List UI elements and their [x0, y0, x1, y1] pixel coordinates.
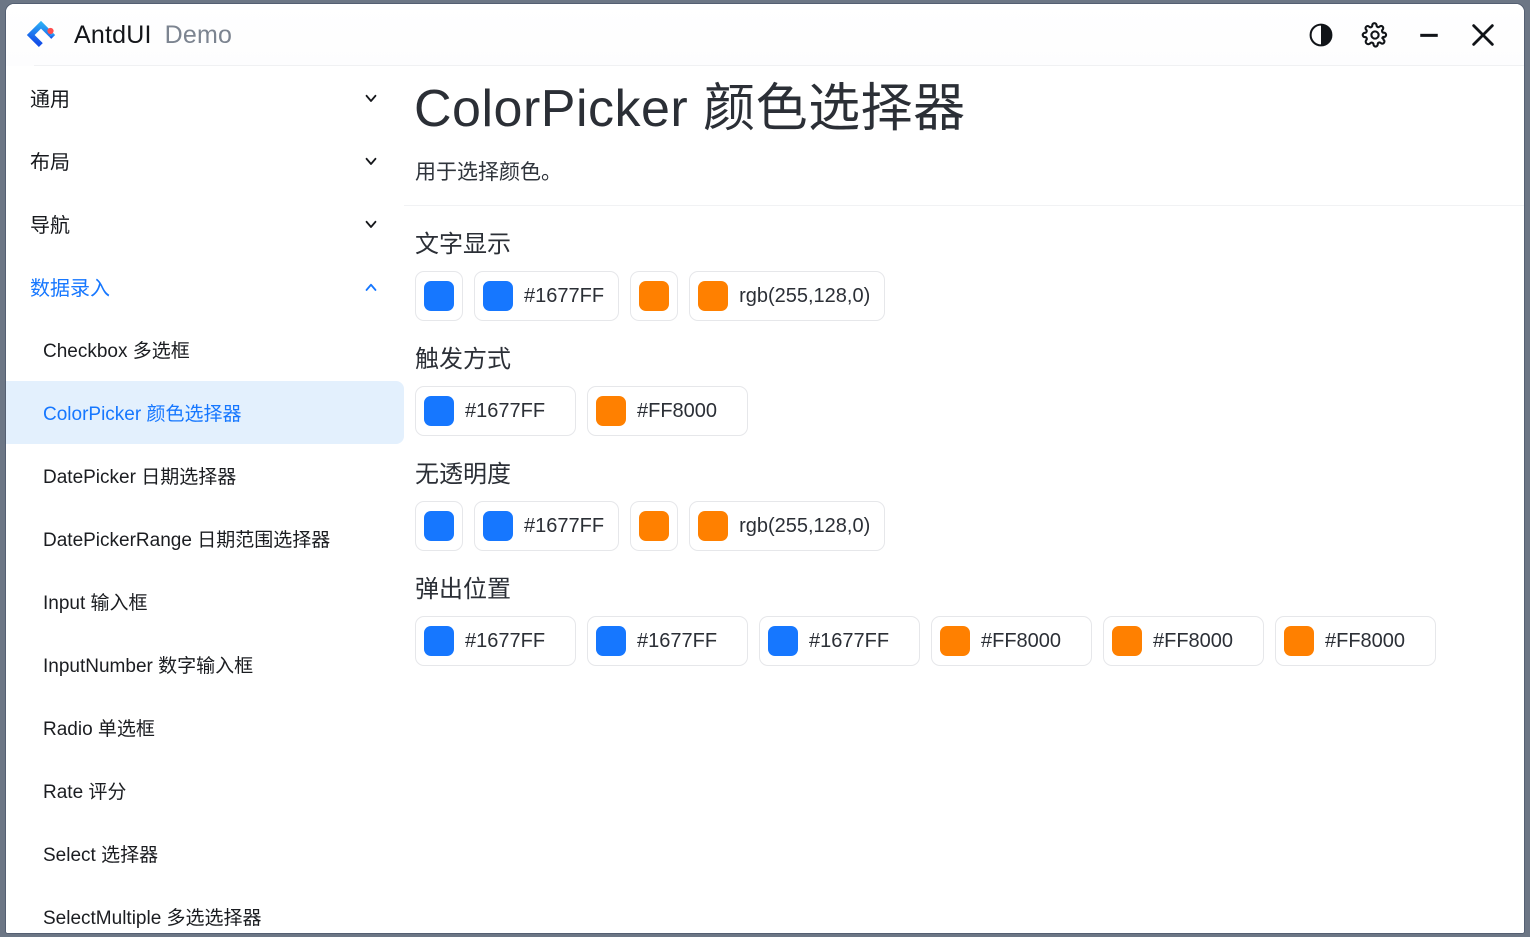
sidebar-item-datepicker[interactable]: DatePicker 日期选择器 [6, 444, 404, 507]
sidebar-item-datepickerrange[interactable]: DatePickerRange 日期范围选择器 [6, 507, 404, 570]
page-description: 用于选择颜色。 [415, 156, 1524, 186]
close-icon [1467, 19, 1499, 51]
sidebar-item-selectmultiple[interactable]: SelectMultiple 多选选择器 [6, 885, 404, 933]
sidebar-item-label: DatePickerRange 日期范围选择器 [43, 525, 330, 552]
sidebar-item-label: Radio 单选框 [43, 714, 155, 741]
page-title: ColorPicker 颜色选择器 [414, 78, 1524, 140]
title-bar: AntdUI Demo [6, 4, 1524, 66]
color-swatch [483, 511, 513, 541]
section-title: 文字显示 [415, 224, 1524, 259]
section-title: 弹出位置 [415, 569, 1524, 604]
sidebar-item-label: Input 输入框 [43, 588, 148, 615]
color-swatch [1112, 626, 1142, 656]
color-swatch [483, 281, 513, 311]
section-wenzixianshi: 文字显示 #1677FF rgb(255,128,0) [415, 224, 1524, 321]
sidebar-group-label: 导航 [30, 209, 362, 238]
colorpicker-hex-orange[interactable]: #FF8000 [587, 386, 748, 436]
colorpicker-row: #1677FF rgb(255,128,0) [415, 501, 1524, 551]
sidebar-group-label: 通用 [30, 83, 362, 112]
color-swatch [768, 626, 798, 656]
sidebar-item-label: DatePicker 日期选择器 [43, 462, 236, 489]
app-window: AntdUI Demo [6, 4, 1524, 933]
color-swatch [596, 626, 626, 656]
color-swatch [639, 511, 669, 541]
section-chufafangshi: 触发方式 #1677FF #FF8000 [415, 339, 1524, 436]
colorpicker-row: #1677FF #1677FF #1677FF #FF8000 [415, 616, 1524, 666]
chevron-down-icon [362, 215, 380, 233]
colorpicker-value: #1677FF [809, 630, 889, 653]
section-tanchuweizhi: 弹出位置 #1677FF #1677FF #1677FF [415, 569, 1524, 666]
sidebar: 通用 布局 导航 数据录入 [6, 66, 404, 933]
colorpicker-placement-6[interactable]: #FF8000 [1275, 616, 1436, 666]
color-swatch [698, 281, 728, 311]
contrast-half-circle-icon [1308, 22, 1334, 48]
app-title: AntdUI [74, 21, 152, 50]
colorpicker-placement-4[interactable]: #FF8000 [931, 616, 1092, 666]
antdui-logo-icon [24, 18, 58, 52]
colorpicker-swatch-only[interactable] [630, 271, 678, 321]
theme-toggle-button[interactable] [1294, 8, 1348, 62]
colorpicker-placement-3[interactable]: #1677FF [759, 616, 920, 666]
colorpicker-hex-blue[interactable]: #1677FF [474, 501, 619, 551]
colorpicker-value: rgb(255,128,0) [739, 285, 870, 308]
colorpicker-row: #1677FF rgb(255,128,0) [415, 271, 1524, 321]
sidebar-group-tongyong[interactable]: 通用 [6, 66, 404, 129]
colorpicker-placement-1[interactable]: #1677FF [415, 616, 576, 666]
section-title: 触发方式 [415, 339, 1524, 374]
colorpicker-row: #1677FF #FF8000 [415, 386, 1524, 436]
colorpicker-placement-2[interactable]: #1677FF [587, 616, 748, 666]
colorpicker-value: #1677FF [637, 630, 717, 653]
colorpicker-value: #1677FF [465, 400, 545, 423]
colorpicker-swatch-only[interactable] [415, 501, 463, 551]
section-title: 无透明度 [415, 454, 1524, 489]
sidebar-item-label: Rate 评分 [43, 777, 126, 804]
color-swatch [1284, 626, 1314, 656]
minimize-button[interactable] [1402, 8, 1456, 62]
color-swatch [424, 396, 454, 426]
color-swatch [596, 396, 626, 426]
sidebar-item-rate[interactable]: Rate 评分 [6, 759, 404, 822]
sidebar-item-checkbox[interactable]: Checkbox 多选框 [6, 318, 404, 381]
app-body: 通用 布局 导航 数据录入 [6, 66, 1524, 933]
sidebar-group-label: 布局 [30, 146, 362, 175]
colorpicker-swatch-only[interactable] [630, 501, 678, 551]
colorpicker-hex-blue[interactable]: #1677FF [415, 386, 576, 436]
settings-button[interactable] [1348, 8, 1402, 62]
colorpicker-placement-5[interactable]: #FF8000 [1103, 616, 1264, 666]
color-swatch [424, 511, 454, 541]
section-wutoumingdu: 无透明度 #1677FF rgb(255,128,0) [415, 454, 1524, 551]
minimize-icon [1415, 21, 1443, 49]
color-swatch [424, 626, 454, 656]
colorpicker-swatch-only[interactable] [415, 271, 463, 321]
sidebar-item-label: InputNumber 数字输入框 [43, 651, 253, 678]
color-swatch [698, 511, 728, 541]
chevron-down-icon [362, 89, 380, 107]
colorpicker-value: #FF8000 [1325, 630, 1405, 653]
colorpicker-rgb-orange[interactable]: rgb(255,128,0) [689, 501, 885, 551]
gear-icon [1361, 21, 1389, 49]
sidebar-group-shujuluru[interactable]: 数据录入 [6, 255, 404, 318]
colorpicker-value: #FF8000 [981, 630, 1061, 653]
sidebar-group-label: 数据录入 [30, 272, 362, 301]
colorpicker-hex-blue[interactable]: #1677FF [474, 271, 619, 321]
colorpicker-value: #FF8000 [637, 400, 717, 423]
sidebar-item-label: Select 选择器 [43, 840, 158, 867]
sidebar-item-select[interactable]: Select 选择器 [6, 822, 404, 885]
sidebar-group-daohang[interactable]: 导航 [6, 192, 404, 255]
colorpicker-value: #1677FF [524, 515, 604, 538]
chevron-down-icon [362, 152, 380, 170]
colorpicker-rgb-orange[interactable]: rgb(255,128,0) [689, 271, 885, 321]
color-swatch [639, 281, 669, 311]
sidebar-item-label: Checkbox 多选框 [43, 336, 190, 363]
colorpicker-value: #FF8000 [1153, 630, 1233, 653]
sidebar-item-label: ColorPicker 颜色选择器 [43, 399, 241, 426]
colorpicker-value: rgb(255,128,0) [739, 515, 870, 538]
sidebar-item-label: SelectMultiple 多选选择器 [43, 903, 262, 930]
chevron-up-icon [362, 278, 380, 296]
color-swatch [424, 281, 454, 311]
app-subtitle: Demo [165, 21, 233, 50]
close-button[interactable] [1456, 8, 1510, 62]
colorpicker-value: #1677FF [524, 285, 604, 308]
sidebar-item-colorpicker[interactable]: ColorPicker 颜色选择器 [6, 381, 404, 444]
colorpicker-value: #1677FF [465, 630, 545, 653]
color-swatch [940, 626, 970, 656]
sidebar-item-input[interactable]: Input 输入框 [6, 570, 404, 633]
content-area: ColorPicker 颜色选择器 用于选择颜色。 文字显示 #1677FF [404, 66, 1524, 933]
sidebar-item-radio[interactable]: Radio 单选框 [6, 696, 404, 759]
sidebar-group-buju[interactable]: 布局 [6, 129, 404, 192]
titlebar-divider [34, 65, 1524, 66]
sidebar-item-inputnumber[interactable]: InputNumber 数字输入框 [6, 633, 404, 696]
header-divider [404, 205, 1524, 206]
